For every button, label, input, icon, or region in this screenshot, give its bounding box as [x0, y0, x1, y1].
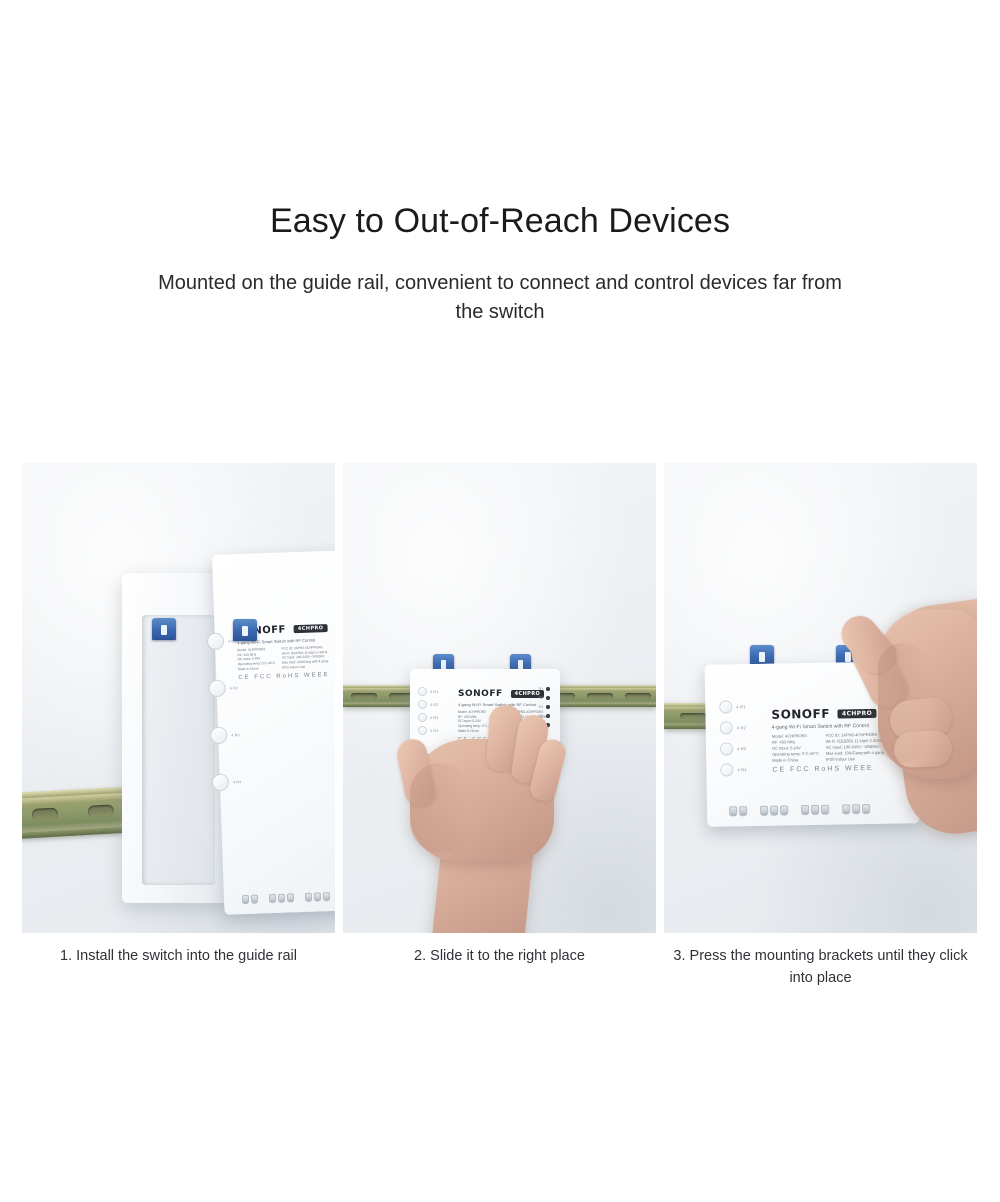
button-label-r4: 4 R4	[430, 729, 438, 733]
button-label-r3: 4 R3	[231, 733, 240, 737]
terminal-group-r1	[269, 893, 294, 903]
terminal	[852, 804, 860, 814]
push-button-r2[interactable]	[208, 680, 226, 698]
model-badge: 4CHPRO	[838, 709, 876, 719]
terminal	[305, 893, 312, 902]
terminal	[251, 895, 258, 904]
push-button-r3[interactable]	[210, 727, 228, 745]
led-r4	[546, 714, 550, 718]
push-button-r3[interactable]	[418, 713, 427, 722]
photo-panel-row: SONOFF4CHPRO 4-gang Wi-Fi Smart Switch w…	[22, 463, 978, 933]
rail-slot	[625, 693, 651, 698]
button-label-r3: 4 R3	[737, 746, 746, 751]
rail-slot	[351, 693, 377, 698]
terminal-group-power	[729, 806, 747, 816]
terminal-strip	[242, 891, 335, 904]
terminal-group-r1	[760, 805, 788, 815]
sonoff-logo: SONOFF4CHPRO	[458, 689, 550, 699]
terminal-group-r2	[305, 892, 330, 902]
terminal	[801, 805, 809, 815]
photo-panel-3: SONOFF4CHPRO 4-gang Wi-Fi Smart Switch w…	[664, 463, 977, 933]
model-badge: 4CHPRO	[294, 624, 328, 633]
mounting-bracket-right[interactable]	[233, 619, 257, 641]
certification-marks: CE FCC RoHS WEEE	[772, 765, 900, 774]
caption-step-1: 1. Install the switch into the guide rai…	[22, 946, 335, 990]
button-label-r3: 4 R3	[430, 716, 438, 720]
push-button-r1[interactable]	[719, 700, 732, 713]
hand-shading	[878, 643, 928, 763]
caption-row: 1. Install the switch into the guide rai…	[22, 946, 978, 990]
push-button-r3[interactable]	[720, 742, 733, 755]
button-label-r2: 4 R2	[430, 703, 438, 707]
led-label-r2: R2	[539, 696, 543, 700]
terminal	[729, 806, 737, 816]
photo-panel-1: SONOFF4CHPRO 4-gang Wi-Fi Smart Switch w…	[22, 463, 335, 933]
device-button-column: 4 R1 4 R2 4 R3 4 R4	[418, 687, 438, 735]
terminal-strip	[729, 804, 870, 816]
led-r3	[546, 705, 550, 709]
terminal-group-r3	[842, 804, 870, 814]
push-button-r2[interactable]	[720, 721, 733, 734]
caption-step-3: 3. Press the mounting brackets until the…	[664, 946, 977, 990]
terminal	[739, 806, 747, 816]
button-label-r1: 4 R1	[736, 704, 745, 709]
push-button-r4[interactable]	[720, 763, 733, 776]
led-label-r3: R3	[539, 705, 543, 709]
led-r2	[546, 696, 550, 700]
terminal	[242, 895, 249, 904]
terminal	[842, 804, 850, 814]
product-feature-page: Easy to Out-of-Reach Devices Mounted on …	[0, 0, 1000, 1202]
rail-slot	[587, 693, 613, 698]
button-label-r2: 4 R2	[230, 686, 239, 690]
button-label-r4: 4 R4	[233, 780, 242, 784]
led-label-r1: R1	[539, 687, 543, 691]
rail-slot	[680, 713, 706, 719]
terminal	[287, 893, 294, 902]
push-button-r1[interactable]	[207, 633, 225, 651]
terminal-group-r2	[801, 805, 829, 815]
terminal	[770, 806, 778, 816]
push-button-r2[interactable]	[418, 700, 427, 709]
push-button-r4[interactable]	[212, 774, 230, 792]
heading-block: Easy to Out-of-Reach Devices Mounted on …	[0, 200, 1000, 327]
terminal	[760, 806, 768, 816]
spec-col-left: Model: 4CHPROR3 RF: 433 MHz DC Input: 5-…	[772, 733, 819, 764]
device-rail-channel	[142, 615, 215, 885]
push-button-r1[interactable]	[418, 687, 427, 696]
button-label-r1: 4 R1	[430, 690, 438, 694]
mounting-bracket-left[interactable]	[152, 618, 176, 640]
spec-col-right: FCC ID: 2APN5-4CHPROR3 Wi-Fi: IEEE802.11…	[282, 645, 329, 671]
page-title: Easy to Out-of-Reach Devices	[0, 200, 1000, 243]
button-label-r2: 4 R2	[737, 725, 746, 730]
spec-col-right: FCC ID: 2APN5-4CHPROR3 Wi-Fi: IEEE802.11…	[826, 732, 885, 763]
terminal	[821, 805, 829, 815]
terminal	[862, 804, 870, 814]
terminal-group-power	[242, 895, 258, 905]
terminal	[780, 805, 788, 815]
push-button-r4[interactable]	[418, 726, 427, 735]
terminal	[314, 892, 321, 901]
button-label-r4: 4 R4	[737, 767, 746, 772]
device-button-column: 4 R1 4 R2 4 R3 4 R4	[207, 632, 242, 791]
photo-panel-2: SONOFF4CHPRO 4-gang Wi-Fi Smart Switch w…	[343, 463, 656, 933]
terminal	[269, 894, 276, 903]
hand-shading	[410, 763, 470, 853]
caption-step-2: 2. Slide it to the right place	[343, 946, 656, 990]
terminal	[323, 892, 330, 901]
rail-slot	[32, 808, 59, 820]
led-r1	[546, 687, 550, 691]
device-button-column: 4 R1 4 R2 4 R3 4 R4	[719, 700, 747, 776]
device-body: SONOFF4CHPRO 4-gang Wi-Fi Smart Switch w…	[212, 549, 335, 915]
rail-slot	[88, 805, 115, 817]
page-subtitle: Mounted on the guide rail, convenient to…	[0, 269, 1000, 327]
device-spec-columns: Model: 4CHPROR3 RF: 433 MHz DC Input: 5-…	[237, 643, 335, 672]
terminal	[811, 805, 819, 815]
spec-col-left: Model: 4CHPROR3 RF: 433 MHz DC Input: 5-…	[237, 647, 275, 672]
terminal	[278, 894, 285, 903]
